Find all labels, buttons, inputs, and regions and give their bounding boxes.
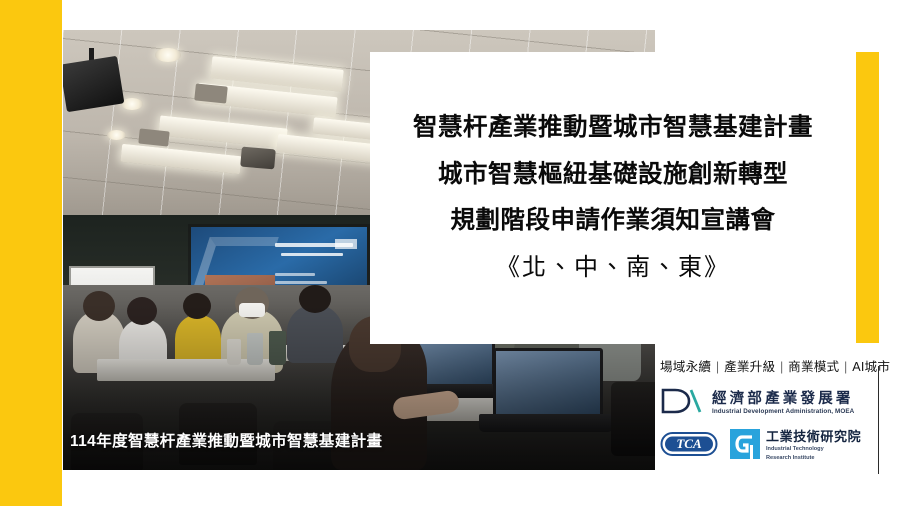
title-line-2: 城市智慧樞紐基礎設施創新轉型 bbox=[438, 163, 788, 188]
title-card: 智慧杆產業推動暨城市智慧基建計畫 城市智慧樞紐基礎設施創新轉型 規劃階段申請作業… bbox=[370, 52, 856, 344]
itri-square-icon bbox=[730, 429, 760, 464]
title-line-4: 《北、中、南、東》 bbox=[496, 256, 730, 280]
tagline: 場域永續 | 產業升級 | 商業模式 | AI城市 bbox=[660, 356, 878, 375]
itri-name-en-2: Research Institute bbox=[766, 455, 861, 463]
event-poster: 114年度智慧杆產業推動暨城市智慧基建計畫 智慧杆產業推動暨城市智慧基建計畫 城… bbox=[0, 0, 900, 506]
title-line-3: 規劃階段申請作業須知宣講會 bbox=[451, 209, 776, 234]
itri-name-zh: 工業技術研究院 bbox=[766, 430, 861, 444]
tagline-separator: | bbox=[779, 360, 784, 374]
tca-oval-icon: TCA bbox=[660, 431, 718, 462]
itri-logo: 工業技術研究院 Industrial Technology Research I… bbox=[730, 429, 861, 464]
itri-text-block: 工業技術研究院 Industrial Technology Research I… bbox=[766, 430, 861, 462]
logo-row-ida: 經濟部產業發展署 Industrial Development Administ… bbox=[660, 387, 878, 420]
ida-text-block: 經濟部產業發展署 Industrial Development Administ… bbox=[712, 392, 854, 416]
ida-name-zh: 經濟部產業發展署 bbox=[712, 392, 854, 407]
itri-name-en-1: Industrial Technology bbox=[766, 446, 861, 454]
tagline-item-3: 商業模式 bbox=[788, 360, 839, 374]
footer: 場域永續 | 產業升級 | 商業模式 | AI城市 經濟部產業發展署 Indus… bbox=[660, 356, 878, 464]
footer-divider bbox=[878, 366, 879, 474]
right-yellow-accent-bar bbox=[855, 52, 879, 343]
tagline-item-4: AI城市 bbox=[852, 360, 890, 374]
tagline-item-2: 產業升級 bbox=[724, 360, 775, 374]
left-yellow-band bbox=[0, 0, 62, 506]
logo-row-partners: TCA 工業技術研究院 Industrial Technology Resear… bbox=[660, 429, 878, 464]
svg-text:TCA: TCA bbox=[676, 436, 702, 451]
tagline-separator: | bbox=[715, 360, 720, 374]
tagline-separator: | bbox=[843, 360, 848, 374]
ida-name-en: Industrial Development Administration, M… bbox=[712, 409, 854, 416]
photo-caption: 114年度智慧杆產業推動暨城市智慧基建計畫 bbox=[70, 429, 382, 451]
da-monogram-icon bbox=[660, 387, 702, 420]
title-line-1: 智慧杆產業推動暨城市智慧基建計畫 bbox=[413, 116, 813, 141]
tagline-item-1: 場域永續 bbox=[660, 360, 711, 374]
